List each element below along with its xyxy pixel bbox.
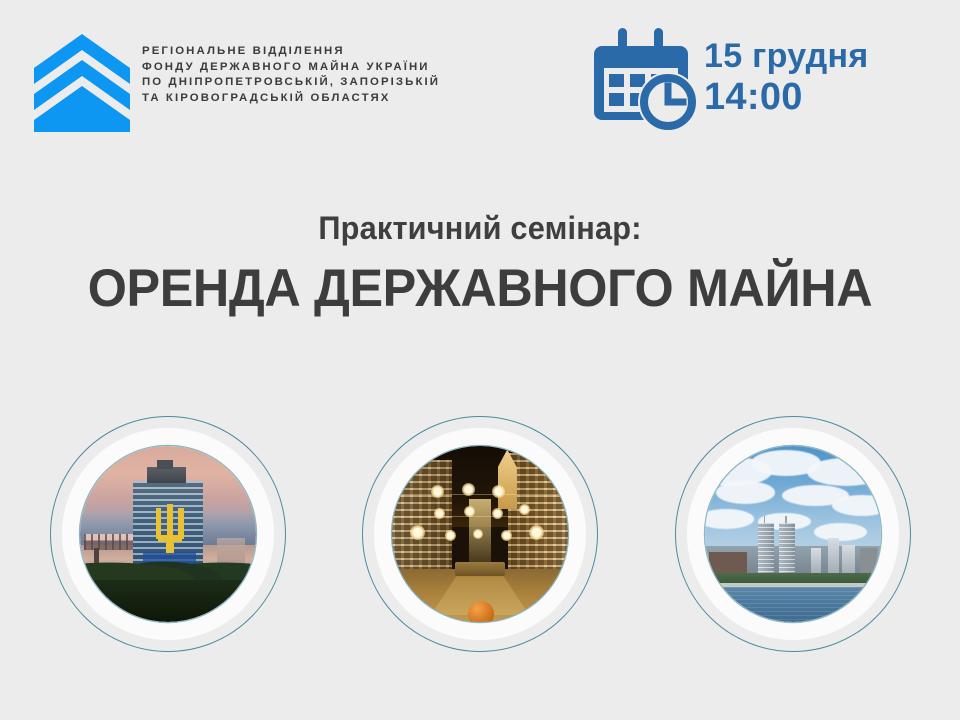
organization-name: РЕГІОНАЛЬНЕ ВІДДІЛЕННЯ ФОНДУ ДЕРЖАВНОГО … <box>142 44 440 106</box>
event-date: 15 грудня <box>704 36 868 76</box>
calendar-clock-icon <box>592 24 700 132</box>
gallery-item-night-street-lights <box>362 416 598 652</box>
event-datetime-text: 15 грудня 14:00 <box>704 36 868 118</box>
gallery-item-dnipro-skyline-river <box>675 416 911 652</box>
event-time: 14:00 <box>704 76 868 118</box>
poster-canvas: РЕГІОНАЛЬНЕ ВІДДІЛЕННЯ ФОНДУ ДЕРЖАВНОГО … <box>0 0 960 720</box>
photo-gallery <box>0 400 960 720</box>
seminar-headline: ОРЕНДА ДЕРЖАВНОГО МАЙНА <box>24 258 936 320</box>
title-block: Практичний семінар: ОРЕНДА ДЕРЖАВНОГО МА… <box>0 208 960 320</box>
organization-line-1: РЕГІОНАЛЬНЕ ВІДДІЛЕННЯ <box>142 44 440 60</box>
photo-parus-building-trident <box>80 446 256 622</box>
photo-dnipro-skyline-river <box>705 446 881 622</box>
chevron-stack-logo-icon <box>34 32 130 132</box>
gallery-item-parus-building-trident <box>50 416 286 652</box>
organization-line-4: ТА КІРОВОГРАДСЬКІЙ ОБЛАСТЯХ <box>142 91 440 107</box>
brand-block: РЕГІОНАЛЬНЕ ВІДДІЛЕННЯ ФОНДУ ДЕРЖАВНОГО … <box>34 28 440 132</box>
seminar-subtitle: Практичний семінар: <box>19 208 941 248</box>
header: РЕГІОНАЛЬНЕ ВІДДІЛЕННЯ ФОНДУ ДЕРЖАВНОГО … <box>0 0 960 150</box>
organization-line-3: ПО ДНІПРОПЕТРОВСЬКІЙ, ЗАПОРІЗЬКІЙ <box>142 75 440 91</box>
event-datetime-block: 15 грудня 14:00 <box>592 24 868 132</box>
photo-night-street-lights <box>392 446 568 622</box>
organization-line-2: ФОНДУ ДЕРЖАВНОГО МАЙНА УКРАЇНИ <box>142 60 440 76</box>
